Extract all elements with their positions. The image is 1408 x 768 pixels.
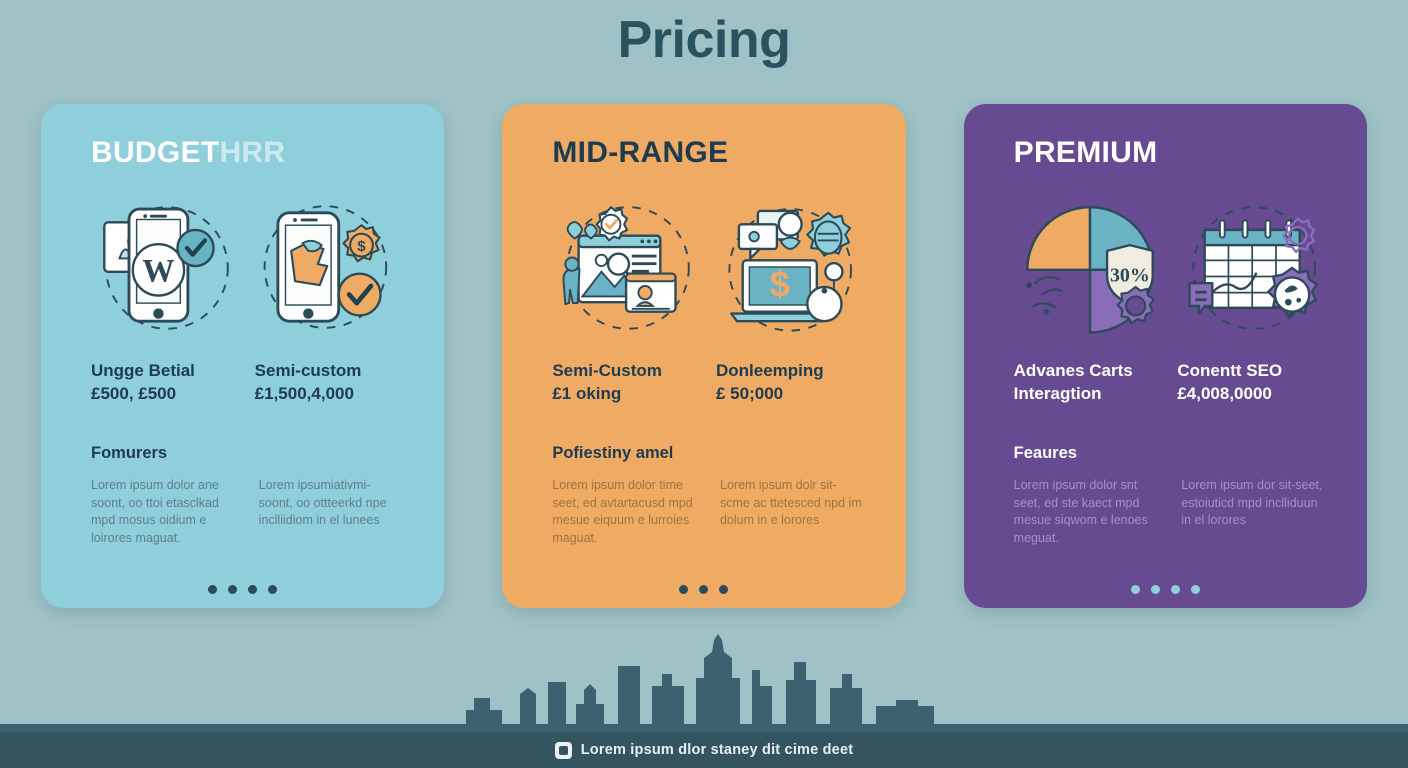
svg-text:$: $ (770, 263, 790, 304)
city-skyline-silhouette (0, 612, 1408, 732)
pricing-card-budget[interactable]: BUDGETHRR W (41, 104, 444, 608)
features-heading: Fomurers (91, 444, 404, 463)
card-title-premium: PREMIUM (1014, 136, 1327, 170)
pagination-dot[interactable] (268, 585, 277, 594)
card-title-text: MID-RANGE (552, 136, 728, 169)
pagination-dot[interactable] (679, 585, 688, 594)
plan-cell: Semi-custom £1,500,4,000 (255, 360, 405, 406)
plan-name: Conentt SEO (1177, 360, 1327, 383)
plan-cell: Semi-Custom £1 oking (552, 360, 702, 406)
plan-cell: Ungge Betial £500, £500 (91, 360, 241, 406)
pagination-dot[interactable] (1171, 585, 1180, 594)
icon-cell: 30% (1014, 192, 1166, 342)
plan-price: £1 oking (552, 383, 702, 406)
pricing-card-premium[interactable]: PREMIUM 30% (964, 104, 1367, 608)
pagination-dot[interactable] (1131, 585, 1140, 594)
icon-row: W $ (91, 192, 404, 342)
laptop-dollar-gear-chat-icon: $ (718, 194, 870, 340)
card-title-text: BUDGET (91, 136, 219, 169)
icon-cell: $ (718, 192, 870, 342)
card-title-text: PREMIUM (1014, 136, 1158, 169)
card-title-mid-range: MID-RANGE (552, 136, 865, 170)
pagination-dot[interactable] (1191, 585, 1200, 594)
svg-text:$: $ (357, 238, 366, 255)
feature-text: Lorem ipsum dolr sit-scme ac ttetesced n… (720, 477, 866, 548)
plan-price: £ 50;000 (716, 383, 866, 406)
plan-cell: Donleemping £ 50;000 (716, 360, 866, 406)
footer-text: Lorem ipsum dlor staney dit cime deet (581, 742, 854, 758)
plan-price: £4,008,0000 (1177, 383, 1327, 406)
plan-price: £500, £500 (91, 383, 241, 406)
price-row: Ungge Betial £500, £500 Semi-custom £1,5… (91, 360, 404, 406)
icon-row: 30% (1014, 192, 1327, 342)
feature-text: Lorem ipsumiativmi-soont, oo ottteerkd n… (259, 477, 405, 548)
pagination-dots[interactable] (502, 585, 905, 594)
icon-cell (1180, 192, 1332, 342)
pagination-dots[interactable] (964, 585, 1367, 594)
svg-text:30%: 30% (1110, 264, 1150, 286)
plan-name: Donleemping (716, 360, 866, 383)
feature-text: Lorem ipsum dolor ane soont, oo ttoi eta… (91, 477, 237, 548)
calendar-gear-analytics-icon (1180, 194, 1332, 340)
feature-text: Lorem ipsum dor sit-seet, estoiuticd mpd… (1181, 477, 1327, 548)
phone-w-badge-check-icon: W (91, 194, 243, 340)
icon-cell: W (91, 192, 243, 342)
card-title-ghost: HRR (219, 136, 285, 169)
pie-chart-shield-gear-icon: 30% (1014, 194, 1166, 340)
pagination-dot[interactable] (1151, 585, 1160, 594)
pagination-dot[interactable] (208, 585, 217, 594)
icon-cell (552, 192, 704, 342)
person-browser-gear-profile-icon (552, 194, 704, 340)
footer-bar: Lorem ipsum dlor staney dit cime deet (0, 732, 1408, 768)
price-row: Semi-Custom £1 oking Donleemping £ 50;00… (552, 360, 865, 406)
features-body: Lorem ipsum dolor snt seet, ed ste kaect… (1014, 477, 1327, 548)
pagination-dot[interactable] (248, 585, 257, 594)
plan-name: Advanes Carts Interagtion (1014, 360, 1164, 406)
rounded-square-logo-icon (555, 742, 572, 759)
features-heading: Pofiestiny amel (552, 444, 865, 463)
icon-cell: $ (257, 192, 409, 342)
pagination-dot[interactable] (719, 585, 728, 594)
pagination-dots[interactable] (41, 585, 444, 594)
plan-name: Semi-custom (255, 360, 405, 383)
page-title: Pricing (0, 10, 1408, 70)
feature-text: Lorem ipsum dolor snt seet, ed ste kaect… (1014, 477, 1160, 548)
plan-price: £1,500,4,000 (255, 383, 405, 406)
plan-name: Ungge Betial (91, 360, 241, 383)
features-body: Lorem ipsum dolor time seet, ed avtartac… (552, 477, 865, 548)
plan-cell: Advanes Carts Interagtion (1014, 360, 1164, 406)
price-row: Advanes Carts Interagtion Conentt SEO £4… (1014, 360, 1327, 406)
feature-text: Lorem ipsum dolor time seet, ed avtartac… (552, 477, 698, 548)
pricing-cards: BUDGETHRR W (41, 104, 1367, 608)
card-title-budget: BUDGETHRR (91, 136, 404, 170)
plan-name: Semi-Custom (552, 360, 702, 383)
pagination-dot[interactable] (699, 585, 708, 594)
features-body: Lorem ipsum dolor ane soont, oo ttoi eta… (91, 477, 404, 548)
phone-gear-dollar-check-icon: $ (257, 194, 409, 340)
plan-cell: Conentt SEO £4,008,0000 (1177, 360, 1327, 406)
icon-row: $ (552, 192, 865, 342)
features-heading: Feaures (1014, 444, 1327, 463)
pricing-card-mid-range[interactable]: MID-RANGE (502, 104, 905, 608)
pagination-dot[interactable] (228, 585, 237, 594)
svg-text:W: W (142, 252, 174, 288)
